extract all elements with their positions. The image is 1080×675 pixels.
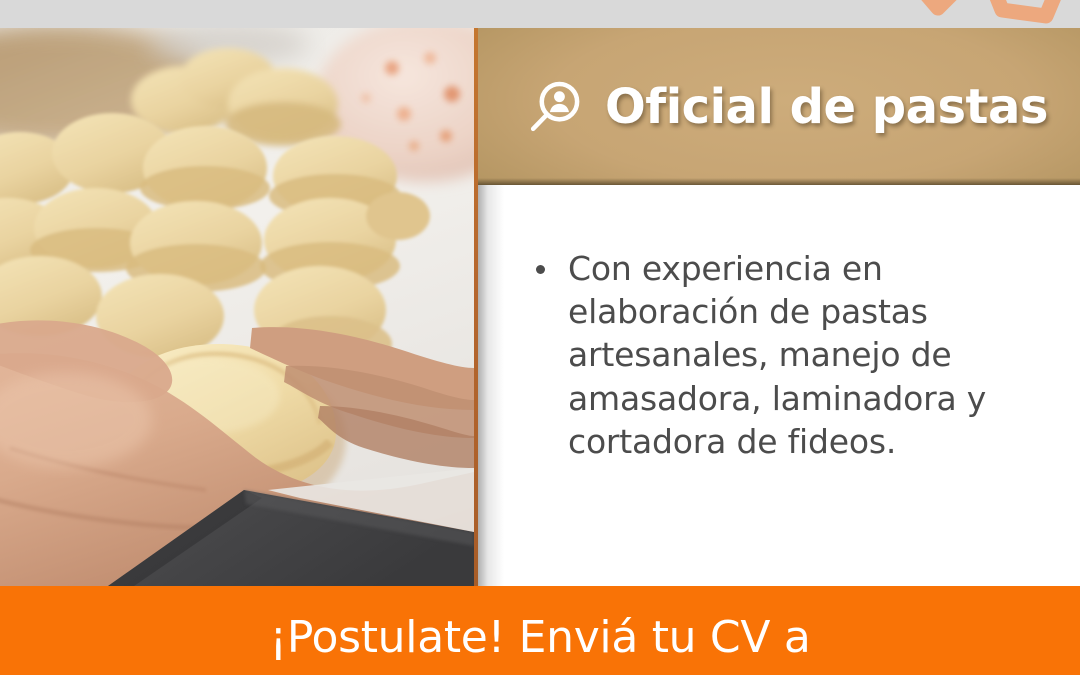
list-item: Con experiencia en elaboración de pastas… (522, 247, 1046, 463)
photo-artwork (0, 28, 474, 586)
job-title-header: Oficial de pastas (477, 28, 1080, 185)
top-strip (0, 0, 1080, 28)
job-posting-poster: Oficial de pastas Con experiencia en ela… (0, 0, 1080, 675)
search-person-icon (525, 79, 583, 137)
page-title: Oficial de pastas (605, 79, 1048, 135)
call-to-action-text: ¡Postulate! Enviá tu CV a (0, 612, 1080, 663)
requirements-list: Con experiencia en elaboración de pastas… (522, 247, 1046, 463)
pasta-dumplings-in-hand-photo (0, 28, 474, 586)
requirements-section: Con experiencia en elaboración de pastas… (478, 185, 1080, 586)
zigzag-line-icon (870, 0, 1080, 28)
job-title-header-inner: Oficial de pastas (477, 28, 1080, 185)
call-to-action-banner: ¡Postulate! Enviá tu CV a (0, 586, 1080, 675)
